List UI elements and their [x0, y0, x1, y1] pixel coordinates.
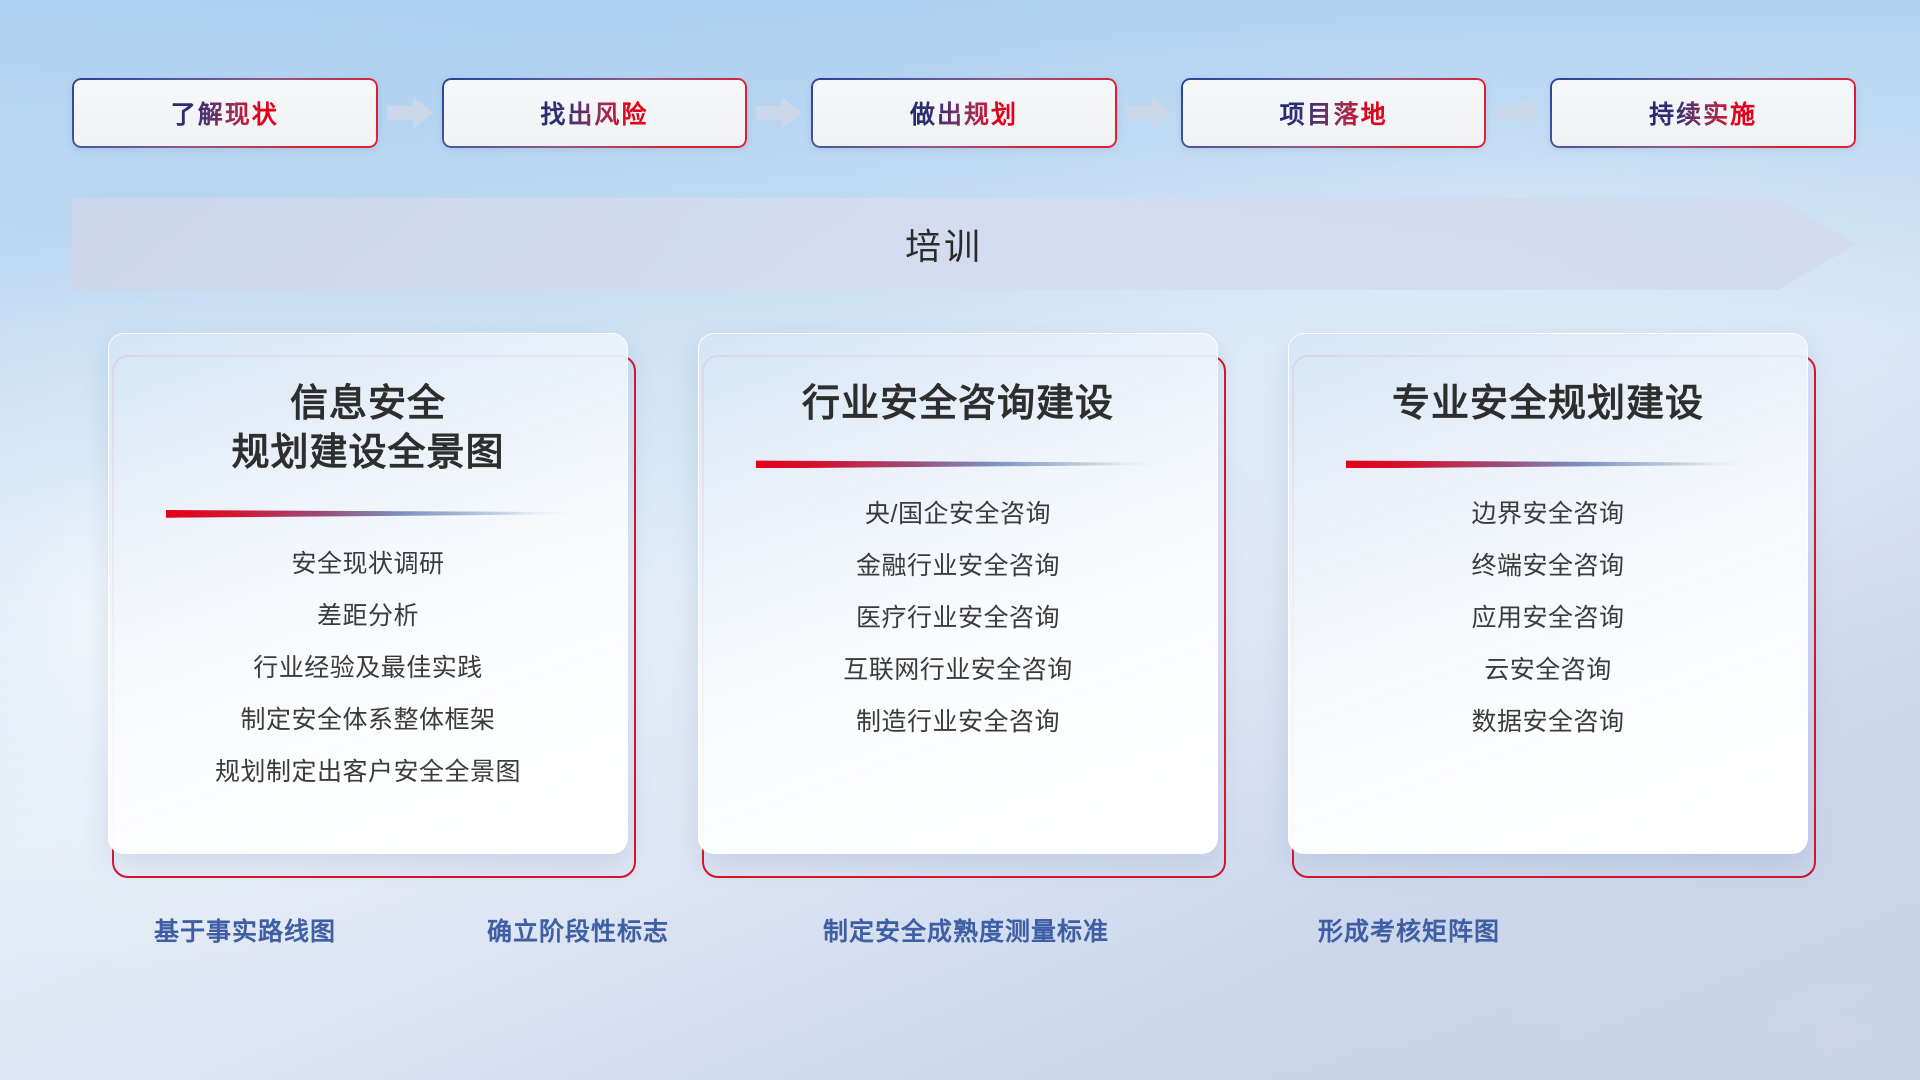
footer-label-row: 基于事实路线图 确立阶段性标志 制定安全成熟度测量标准 形成考核矩阵图: [0, 912, 1920, 962]
process-step-3[interactable]: 做出规划: [811, 78, 1117, 148]
step-arrow-4: [1486, 95, 1550, 131]
list-item: 互联网行业安全咨询: [843, 658, 1073, 683]
service-card-3[interactable]: 专业安全规划建设 边界安全咨询 终端安全咨询 应用安全咨询 云安全咨询 数据安全…: [1288, 333, 1808, 854]
list-item: 应用安全咨询: [1471, 606, 1624, 631]
process-step-1[interactable]: 了解现状: [72, 78, 378, 148]
list-item: 央/国企安全咨询: [843, 502, 1073, 527]
step-arrow-2: [747, 95, 811, 131]
list-item: 差距分析: [215, 604, 521, 629]
training-banner: 培训: [72, 198, 1856, 290]
list-item: 医疗行业安全咨询: [843, 606, 1073, 631]
card-wrapper-1: 信息安全 规划建设全景图 安全现状调研 差距分析 行业经验及最佳实践 制定安全体…: [108, 333, 640, 878]
footer-label-3: 制定安全成熟度测量标准: [823, 912, 1109, 948]
list-item: 边界安全咨询: [1471, 502, 1624, 527]
footer-label-2: 确立阶段性标志: [487, 912, 669, 948]
list-item: 数据安全咨询: [1471, 710, 1624, 735]
footer-label-1: 基于事实路线图: [154, 912, 336, 948]
list-item: 制造行业安全咨询: [843, 710, 1073, 735]
service-card-2[interactable]: 行业安全咨询建设 央/国企安全咨询 金融行业安全咨询 医疗行业安全咨询 互联网行…: [698, 333, 1218, 854]
list-item: 制定安全体系整体框架: [215, 708, 521, 733]
list-item: 规划制定出客户安全全景图: [215, 760, 521, 785]
list-item: 金融行业安全咨询: [843, 554, 1073, 579]
step-arrow-1: [378, 95, 442, 131]
card-wrapper-3: 专业安全规划建设 边界安全咨询 终端安全咨询 应用安全咨询 云安全咨询 数据安全…: [1288, 333, 1820, 878]
process-step-label: 了解现状: [171, 95, 279, 131]
card-title: 专业安全规划建设: [1392, 380, 1704, 429]
list-item: 终端安全咨询: [1471, 554, 1624, 579]
banner-label: 培训: [72, 198, 1856, 290]
service-card-1[interactable]: 信息安全 规划建设全景图 安全现状调研 差距分析 行业经验及最佳实践 制定安全体…: [108, 333, 628, 854]
card-divider: [1346, 459, 1750, 468]
process-step-4[interactable]: 项目落地: [1181, 78, 1487, 148]
process-step-2[interactable]: 找出风险: [442, 78, 748, 148]
card-item-list: 安全现状调研 差距分析 行业经验及最佳实践 制定安全体系整体框架 规划制定出客户…: [215, 552, 521, 785]
card-title: 行业安全咨询建设: [802, 380, 1114, 429]
list-item: 云安全咨询: [1471, 658, 1624, 683]
process-step-label: 项目落地: [1280, 95, 1388, 131]
process-step-label: 找出风险: [540, 95, 648, 131]
process-step-row: 了解现状 找出风险 做出规划 项目落地: [72, 78, 1856, 148]
card-row: 信息安全 规划建设全景图 安全现状调研 差距分析 行业经验及最佳实践 制定安全体…: [108, 333, 1820, 878]
list-item: 安全现状调研: [215, 552, 521, 577]
card-item-list: 央/国企安全咨询 金融行业安全咨询 医疗行业安全咨询 互联网行业安全咨询 制造行…: [843, 502, 1073, 735]
card-divider: [166, 509, 570, 518]
footer-label-4: 形成考核矩阵图: [1318, 912, 1500, 948]
process-step-label: 做出规划: [910, 95, 1018, 131]
process-step-label: 持续实施: [1649, 95, 1757, 131]
step-arrow-3: [1117, 95, 1181, 131]
list-item: 行业经验及最佳实践: [215, 656, 521, 681]
process-step-5[interactable]: 持续实施: [1550, 78, 1856, 148]
slide-canvas: 了解现状 找出风险 做出规划 项目落地: [0, 0, 1920, 1080]
card-item-list: 边界安全咨询 终端安全咨询 应用安全咨询 云安全咨询 数据安全咨询: [1471, 502, 1624, 735]
card-title: 信息安全 规划建设全景图: [231, 380, 504, 479]
card-wrapper-2: 行业安全咨询建设 央/国企安全咨询 金融行业安全咨询 医疗行业安全咨询 互联网行…: [698, 333, 1230, 878]
card-divider: [756, 459, 1160, 468]
